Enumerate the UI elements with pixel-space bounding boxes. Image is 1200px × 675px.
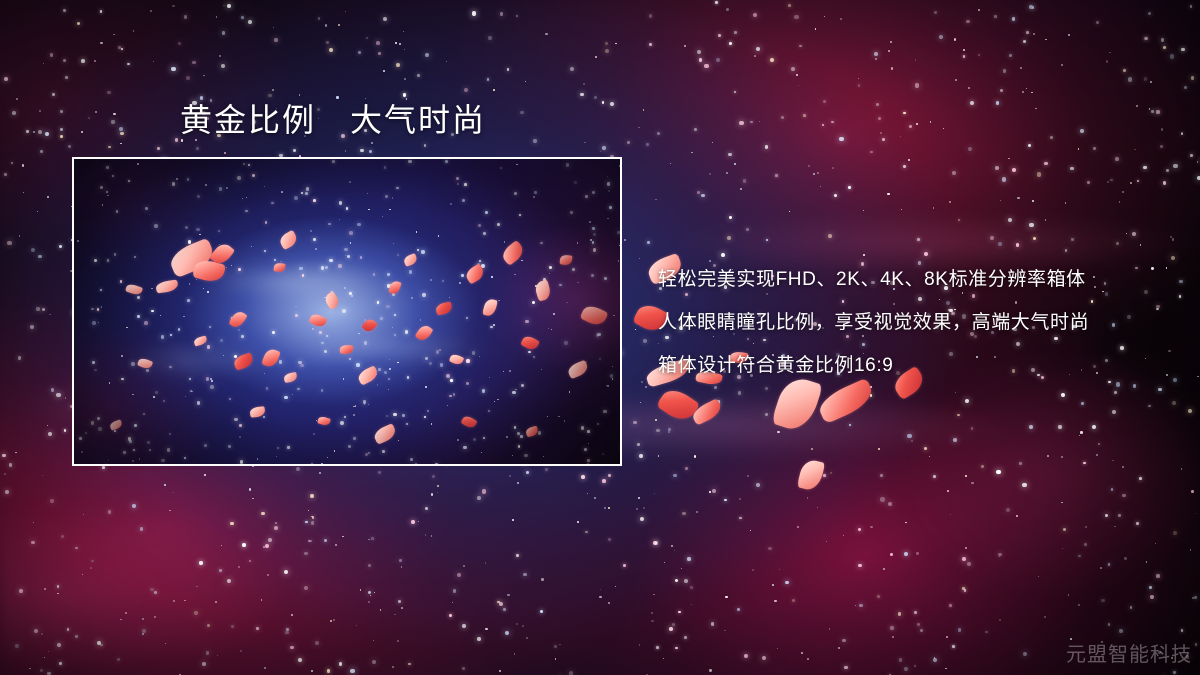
star (97, 641, 101, 645)
star (963, 49, 965, 51)
star (223, 5, 225, 7)
star (1033, 237, 1036, 240)
star (497, 601, 500, 604)
star (1170, 236, 1172, 238)
star (995, 166, 999, 170)
star (1184, 86, 1187, 89)
star (770, 58, 774, 62)
star (202, 662, 206, 666)
star (905, 522, 907, 524)
star (962, 587, 965, 590)
star (690, 586, 693, 589)
star (1084, 543, 1087, 546)
star (602, 101, 605, 104)
star (437, 485, 439, 487)
star (789, 420, 792, 423)
star (204, 474, 206, 476)
star (599, 596, 601, 598)
star (240, 650, 242, 652)
star (880, 474, 883, 477)
star (1112, 410, 1116, 414)
star (880, 497, 884, 501)
star (118, 46, 121, 49)
star (696, 403, 697, 404)
star (651, 612, 652, 613)
star (623, 564, 626, 567)
star (368, 601, 370, 603)
star (952, 171, 956, 175)
star (77, 22, 80, 25)
star (113, 113, 115, 115)
star (608, 538, 611, 541)
star (663, 658, 664, 659)
star (639, 258, 640, 259)
star (293, 149, 296, 152)
star (401, 566, 402, 567)
star (83, 514, 84, 515)
star (727, 236, 731, 240)
star (684, 579, 688, 583)
star (329, 48, 333, 52)
star (1016, 515, 1018, 517)
star (370, 595, 371, 596)
star (779, 569, 780, 570)
star (207, 624, 210, 627)
star (901, 209, 902, 210)
star (765, 413, 769, 417)
star (507, 594, 509, 596)
star (40, 150, 43, 153)
star (1081, 402, 1084, 405)
star (509, 475, 511, 477)
star (1106, 60, 1108, 62)
star (545, 33, 547, 35)
star (1062, 548, 1064, 550)
star (858, 78, 859, 79)
star (59, 662, 62, 665)
star (520, 111, 524, 115)
star (1058, 425, 1061, 428)
star (647, 241, 650, 244)
star (878, 448, 880, 450)
star (880, 132, 881, 133)
star (1123, 69, 1126, 72)
star (265, 544, 269, 548)
star (1045, 39, 1046, 40)
star (1150, 81, 1152, 83)
star (888, 50, 890, 52)
star (50, 499, 54, 503)
star (839, 137, 843, 141)
star (267, 574, 269, 576)
star (1181, 48, 1184, 51)
star (1101, 599, 1105, 603)
star (1044, 162, 1047, 165)
star (694, 128, 697, 131)
star (911, 440, 913, 442)
star (47, 672, 51, 675)
star (477, 496, 481, 500)
star (431, 535, 433, 537)
star (369, 150, 372, 153)
star (580, 93, 584, 97)
star (203, 75, 204, 76)
star (962, 557, 966, 561)
star (1179, 295, 1182, 298)
star (327, 669, 330, 672)
star (371, 537, 374, 540)
star (1083, 462, 1086, 465)
star (900, 136, 901, 137)
star (949, 201, 951, 203)
star (1022, 483, 1026, 487)
star (173, 492, 175, 494)
star (291, 614, 293, 616)
star (165, 643, 167, 645)
star (766, 239, 769, 242)
star (171, 67, 175, 71)
star (339, 662, 343, 666)
star (858, 84, 861, 87)
star (358, 51, 361, 54)
star (775, 174, 778, 177)
star (1098, 443, 1101, 446)
star (1061, 502, 1063, 504)
star (44, 657, 45, 658)
star (308, 540, 310, 542)
star (378, 471, 381, 474)
star (43, 63, 44, 64)
star (507, 68, 510, 71)
star (643, 339, 647, 343)
star (285, 631, 288, 634)
star (308, 510, 309, 511)
star (604, 507, 606, 509)
star (678, 611, 681, 614)
star (1158, 388, 1162, 392)
star (645, 386, 647, 388)
star (290, 646, 293, 649)
star (649, 14, 652, 17)
star (1128, 77, 1132, 81)
star (398, 600, 401, 603)
star (696, 511, 697, 512)
star (712, 142, 713, 143)
star (75, 635, 78, 638)
star (142, 633, 144, 635)
star (249, 560, 252, 563)
star (33, 131, 35, 133)
star (964, 589, 967, 592)
star (739, 498, 741, 500)
star (890, 626, 893, 629)
star (311, 516, 313, 518)
star (600, 589, 602, 591)
star (888, 502, 892, 506)
star (43, 309, 45, 311)
star (199, 561, 202, 564)
star (849, 424, 851, 426)
star (620, 446, 622, 448)
star (823, 474, 826, 477)
star (1035, 108, 1037, 110)
star (907, 434, 911, 438)
star (1033, 33, 1035, 35)
star (298, 658, 302, 662)
star (958, 219, 960, 221)
star (326, 41, 329, 44)
star (716, 58, 720, 62)
star (1163, 46, 1166, 49)
star (813, 173, 815, 175)
star (312, 516, 315, 519)
star (1109, 52, 1110, 53)
star (985, 631, 988, 634)
star (1100, 567, 1102, 569)
star (994, 15, 997, 18)
star (1143, 166, 1146, 169)
star (41, 633, 43, 635)
star (1000, 200, 1001, 201)
star (903, 112, 906, 115)
star (425, 53, 429, 57)
star (668, 428, 672, 432)
star (608, 507, 610, 509)
star (1096, 21, 1099, 24)
star (777, 431, 779, 433)
star (638, 127, 640, 129)
star (672, 623, 675, 626)
star (309, 540, 312, 543)
star (627, 141, 630, 144)
star (1061, 64, 1063, 66)
star (826, 541, 827, 542)
star (372, 660, 376, 664)
star (60, 128, 63, 131)
star (752, 569, 754, 571)
star (219, 569, 222, 572)
star (737, 608, 740, 611)
star (820, 186, 821, 187)
star (716, 401, 717, 402)
star (955, 392, 956, 393)
star (781, 116, 784, 119)
star (835, 403, 839, 407)
star (724, 630, 725, 631)
star (219, 55, 221, 57)
star (1190, 549, 1192, 551)
star (186, 76, 190, 80)
star (965, 399, 969, 403)
body-line-2: 人体眼睛瞳孔比例，享受视觉效果，高端大气时尚 (658, 301, 1178, 344)
star (1195, 513, 1196, 514)
star (971, 482, 973, 484)
star (91, 560, 94, 563)
star (1037, 172, 1041, 176)
star (999, 556, 1000, 557)
star (1197, 176, 1200, 180)
star (933, 658, 937, 662)
star (227, 579, 231, 583)
star (1063, 528, 1066, 531)
star (1096, 454, 1098, 456)
star (840, 18, 842, 20)
star (712, 489, 716, 493)
star (45, 132, 49, 136)
star (299, 94, 301, 96)
star (1071, 238, 1074, 241)
star (1156, 110, 1159, 113)
star (42, 475, 43, 476)
star (164, 484, 166, 486)
star (1192, 597, 1194, 599)
star (1140, 244, 1142, 246)
star (1080, 431, 1082, 433)
star (464, 88, 468, 92)
star (848, 186, 851, 189)
star (411, 520, 415, 524)
star (1122, 494, 1125, 497)
star (311, 521, 314, 524)
star (516, 623, 518, 625)
star (522, 625, 524, 627)
star (360, 589, 362, 591)
star (401, 607, 403, 609)
star (360, 149, 364, 153)
star (305, 521, 308, 524)
star (1115, 157, 1119, 161)
star (57, 585, 60, 588)
star (4, 173, 7, 176)
star (789, 211, 790, 212)
star (945, 668, 947, 670)
star (998, 242, 1002, 246)
star (472, 11, 476, 15)
star (541, 578, 543, 580)
body-line-1: 轻松完美实现FHD、2K、4K、8K标准分辨率箱体 (658, 258, 1178, 301)
star (684, 45, 686, 47)
star (641, 381, 643, 383)
star (750, 121, 753, 124)
star (1093, 147, 1096, 150)
star (691, 152, 693, 154)
star (1078, 148, 1080, 150)
star (175, 138, 179, 142)
star (1160, 145, 1163, 148)
star (583, 83, 585, 85)
panel-vignette (74, 159, 620, 464)
star (1065, 249, 1068, 252)
star (933, 207, 935, 209)
star (380, 609, 382, 611)
star (224, 152, 226, 154)
star (392, 666, 394, 668)
star (264, 667, 266, 669)
star (56, 393, 60, 397)
star (221, 64, 225, 68)
star (830, 472, 833, 475)
star (286, 628, 289, 631)
star (374, 592, 375, 593)
star (756, 47, 760, 51)
star (863, 210, 864, 211)
star (685, 467, 688, 470)
star (682, 512, 685, 515)
star (595, 56, 597, 58)
watermark: 元盟智能科技 (1066, 638, 1192, 667)
star (602, 146, 605, 149)
star (1134, 149, 1136, 151)
star (404, 49, 405, 50)
star (399, 559, 403, 563)
star (709, 669, 711, 671)
star (378, 52, 381, 55)
star (356, 625, 357, 626)
star (88, 117, 91, 120)
star (1139, 477, 1142, 480)
star (1124, 557, 1126, 559)
star (67, 628, 70, 631)
star (9, 463, 12, 466)
star (44, 588, 46, 590)
star (57, 643, 61, 647)
star (998, 553, 1002, 557)
star (397, 640, 399, 642)
star (743, 179, 746, 182)
star (615, 586, 616, 587)
star (38, 255, 42, 259)
star (140, 527, 144, 531)
star (651, 620, 653, 622)
star (533, 139, 537, 143)
star (789, 424, 791, 426)
star (485, 562, 487, 564)
star (671, 545, 673, 547)
star (653, 541, 657, 545)
star (624, 239, 626, 241)
star (63, 59, 66, 62)
star (1044, 616, 1046, 618)
star (453, 589, 457, 593)
star (729, 216, 732, 219)
star (51, 388, 55, 392)
star (1194, 596, 1197, 599)
star (108, 510, 111, 513)
star (1006, 508, 1010, 512)
star (876, 103, 879, 106)
star (817, 172, 819, 174)
star (675, 647, 678, 650)
star (828, 234, 832, 238)
star (892, 636, 894, 638)
star (376, 41, 380, 45)
star (971, 427, 973, 429)
star (791, 67, 795, 71)
star (525, 465, 527, 467)
star (261, 599, 262, 600)
star (1191, 490, 1193, 492)
star (452, 602, 453, 603)
star (477, 637, 481, 641)
star (855, 605, 857, 607)
star (1111, 488, 1114, 491)
star (882, 138, 886, 142)
star (552, 465, 554, 466)
star (395, 42, 397, 44)
star (768, 547, 771, 550)
star (903, 165, 906, 168)
star (594, 96, 597, 99)
